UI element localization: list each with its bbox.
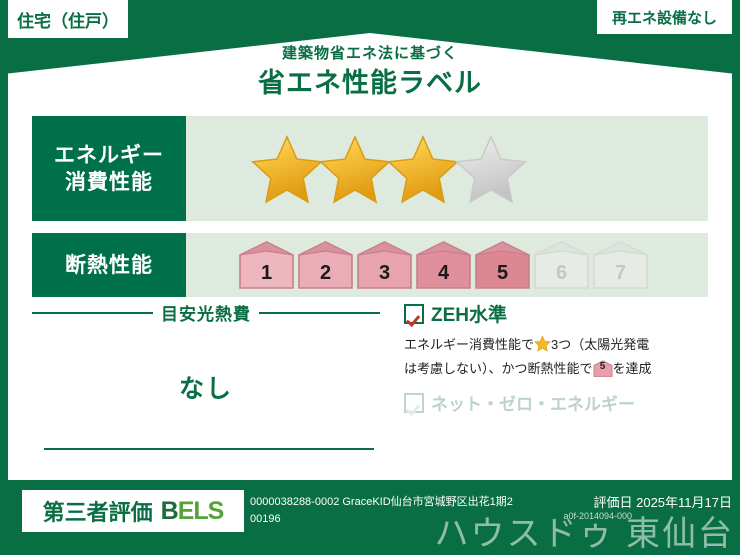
zeh-panel: ZEH水準 エネルギー消費性能で3つ（太陽光発電 は考慮しない）、かつ断熱性能で… [404, 300, 710, 468]
energy-performance-row: エネルギー 消費性能 [32, 116, 708, 221]
utility-cost-panel: 目安光熱費 なし [32, 300, 380, 468]
label-heading: 建築物省エネ法に基づく 省エネ性能ラベル [0, 44, 740, 100]
zeh-header: ZEH水準 [404, 300, 710, 327]
insulation-label-text: 断熱性能 [65, 252, 153, 279]
insulation-house-empty: 6 [533, 240, 590, 290]
bels-logotype-els: ELS [178, 497, 224, 525]
insulation-house-level: 1 [238, 262, 295, 285]
insulation-house-level: 4 [415, 262, 472, 285]
building-type-tag: 住宅（住戸） [8, 0, 128, 38]
label-footer: 第三者評価 BELS 0000038288-0002 GraceKID仙台市宮城… [0, 480, 740, 553]
star-filled-icon [250, 133, 324, 205]
star-empty-icon [454, 133, 528, 205]
net-zero-energy-row: ネット・ゼロ・エネルギー [404, 390, 710, 415]
certificate-id-and-property: 0000038288-0002 GraceKID仙台市宮城野区出花1期2 001… [250, 494, 540, 528]
utility-cost-heading-text: 目安光熱費 [161, 300, 251, 325]
insulation-performance-label: 断熱性能 [32, 233, 186, 297]
zeh-title: ZEH水準 [431, 300, 507, 327]
utility-cost-value: なし [32, 369, 380, 405]
certificate-id-line2: 00196 [250, 511, 540, 528]
heading-rule-right [259, 312, 380, 314]
evaluation-date: 評価日 2025年11月17日 [593, 494, 732, 511]
insulation-house-empty: 7 [592, 240, 649, 290]
mini-star-icon [534, 335, 551, 358]
zeh-description: エネルギー消費性能で3つ（太陽光発電 は考慮しない）、かつ断熱性能で5を達成 [404, 334, 710, 379]
label-title: 省エネ性能ラベル [0, 66, 740, 100]
energy-performance-label: エネルギー 消費性能 [32, 116, 186, 221]
zeh-desc-part2: は考慮しない）、かつ断熱性能で [404, 361, 593, 376]
evaluation-date-label: 評価日 [593, 495, 632, 510]
insulation-house-filled: 1 [238, 240, 295, 290]
net-zero-energy-label: ネット・ゼロ・エネルギー [431, 390, 635, 415]
star-filled-icon [318, 133, 392, 205]
heading-rule-left [32, 312, 153, 314]
insulation-house-level: 6 [533, 262, 590, 285]
energy-label-line2: 消費性能 [65, 169, 153, 196]
insulation-house-level: 7 [592, 262, 649, 285]
renewable-energy-tag: 再エネ設備なし [597, 0, 732, 34]
certificate-id-line1: 0000038288-0002 GraceKID仙台市宮城野区出花1期2 [250, 494, 540, 511]
insulation-house-level: 5 [474, 262, 531, 285]
insulation-house-filled: 5 [474, 240, 531, 290]
evaluation-date-value: 2025年11月17日 [636, 495, 732, 510]
insulation-house-filled: 2 [297, 240, 354, 290]
energy-label-line1: エネルギー [54, 142, 164, 169]
insulation-house-filled: 4 [415, 240, 472, 290]
zeh-desc-star-count: 3つ（太陽光発電 [551, 337, 649, 352]
bels-logotype: BELS [161, 497, 224, 526]
insulation-house-level: 3 [356, 262, 413, 285]
zeh-checkbox-checked-icon [404, 304, 424, 324]
insulation-house-scale: 1234567 [238, 240, 651, 290]
insulation-scale-area: 1234567 [186, 233, 708, 297]
mini-house-level: 5 [593, 356, 613, 377]
utility-cost-heading: 目安光熱費 [32, 300, 380, 325]
utility-cost-bottom-rule [44, 448, 374, 450]
watermark-code: a0f-2014094-000 [563, 511, 632, 521]
mini-house-icon: 5 [593, 360, 613, 377]
bels-third-party-badge: 第三者評価 BELS [22, 490, 244, 532]
net-zero-checkbox-unchecked-icon [404, 393, 424, 413]
bels-logotype-b: B [161, 497, 178, 525]
star-filled-icon [386, 133, 460, 205]
zeh-desc-part3: を達成 [613, 361, 652, 376]
insulation-house-level: 2 [297, 262, 354, 285]
label-subtitle: 建築物省エネ法に基づく [0, 44, 740, 64]
insulation-house-filled: 3 [356, 240, 413, 290]
bels-energy-label: 住宅（住戸） 再エネ設備なし 建築物省エネ法に基づく 省エネ性能ラベル エネルギ… [0, 0, 740, 553]
zeh-desc-part1: エネルギー消費性能で [404, 337, 534, 352]
third-party-eval-text: 第三者評価 [43, 495, 153, 527]
insulation-performance-row: 断熱性能 1234567 [32, 233, 708, 297]
energy-star-rating [186, 116, 708, 221]
